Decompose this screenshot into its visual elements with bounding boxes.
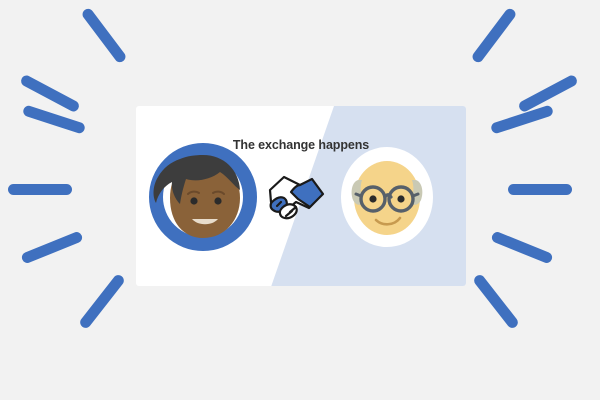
- handshake-svg: [260, 168, 330, 228]
- woman-eye-right: [214, 197, 221, 204]
- ray-right-upper-inner: [470, 7, 517, 65]
- ray-left-middle: [8, 184, 72, 195]
- man-eye-right: [397, 195, 404, 202]
- woman-eye-left: [190, 197, 197, 204]
- elderly-man-avatar: [334, 144, 440, 250]
- ray-right-lower-inner: [472, 273, 520, 330]
- illustration-canvas: The exchange happens: [0, 0, 600, 400]
- exchange-card: The exchange happens: [136, 106, 466, 286]
- card-title: The exchange happens: [136, 138, 466, 152]
- handshake-white-knuckles: [280, 204, 297, 218]
- woman-avatar: [150, 144, 256, 250]
- man-eye-left: [369, 195, 376, 202]
- woman-avatar-svg: [150, 144, 256, 250]
- ray-left-lower-inner: [78, 273, 126, 330]
- ray-right-lower-outer: [490, 230, 553, 264]
- ray-right-middle: [508, 184, 572, 195]
- ray-left-upper-inner: [80, 7, 127, 65]
- glasses-temple-left: [356, 194, 361, 196]
- elderly-man-avatar-svg: [334, 144, 440, 250]
- handshake-icon: [260, 168, 330, 228]
- ray-left-lower-outer: [20, 230, 83, 264]
- glasses-temple-right: [413, 194, 418, 196]
